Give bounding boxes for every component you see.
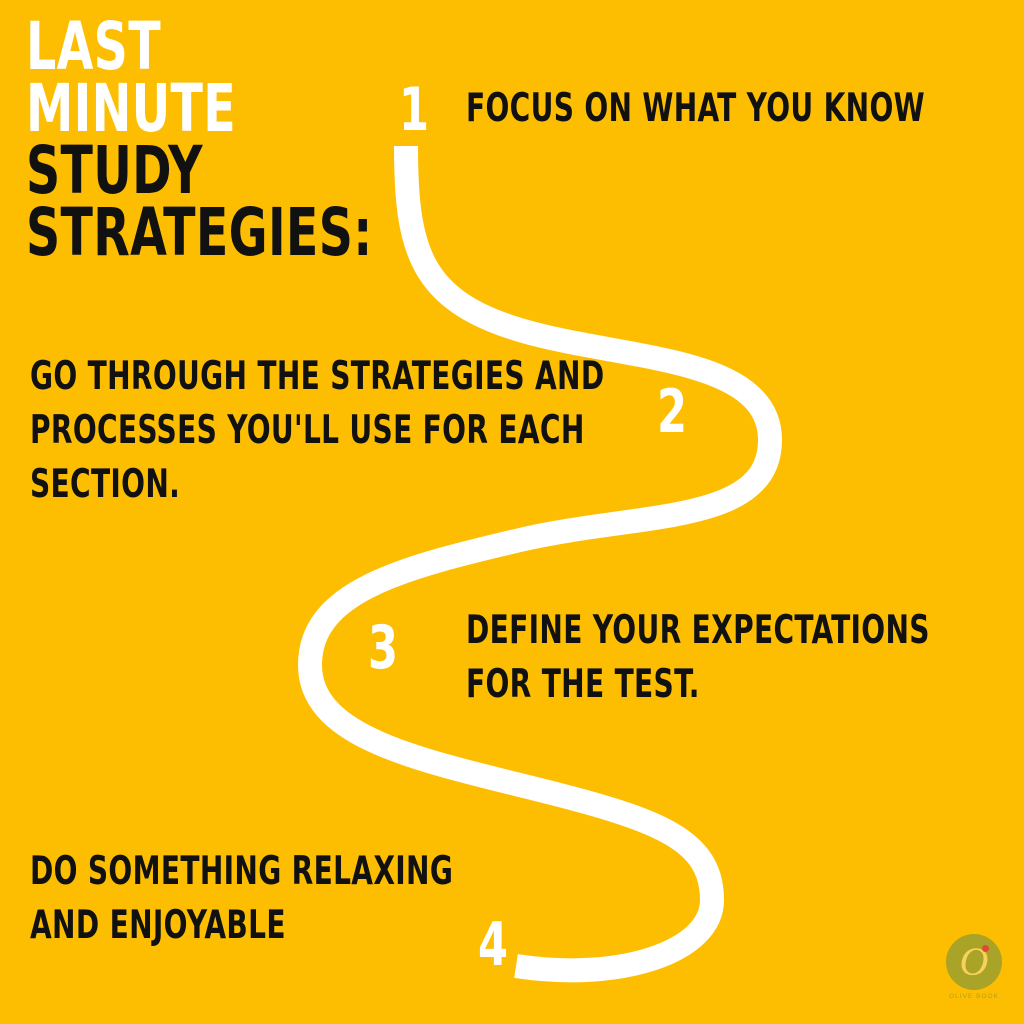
step-2-line-1: GO THROUGH THE STRATEGIES AND <box>30 350 605 404</box>
title-line-3: STUDY <box>26 140 474 202</box>
step-3-number: 3 <box>368 618 398 678</box>
logo-wordmark: OLIVE BOOK <box>938 993 1010 1000</box>
step-3-text: DEFINE YOUR EXPECTATIONS FOR THE TEST. <box>466 604 1024 712</box>
title-line-1: LAST <box>26 16 474 78</box>
step-2-line-2: PROCESSES YOU'LL USE FOR EACH <box>30 404 605 458</box>
title-line-4: STRATEGIES: <box>26 202 474 264</box>
step-4-text: DO SOMETHING RELAXING AND ENJOYABLE <box>30 845 559 953</box>
step-3-line-2: FOR THE TEST. <box>466 658 930 712</box>
step-1-line-1: FOCUS ON WHAT YOU KNOW <box>466 82 925 136</box>
step-2-text: GO THROUGH THE STRATEGIES AND PROCESSES … <box>30 350 748 512</box>
step-4-line-1: DO SOMETHING RELAXING <box>30 845 453 899</box>
step-1-number: 1 <box>399 80 429 140</box>
page-title: LAST MINUTE STUDY STRATEGIES: <box>26 16 586 264</box>
olive-book-logo: O OLIVE BOOK <box>938 934 1010 1012</box>
logo-red-dot-icon <box>982 945 989 952</box>
logo-circle-icon: O <box>946 934 1002 990</box>
step-4-line-2: AND ENJOYABLE <box>30 899 453 953</box>
step-2-line-3: SECTION. <box>30 458 605 512</box>
step-1-text: FOCUS ON WHAT YOU KNOW <box>466 82 1024 136</box>
infographic-poster: LAST MINUTE STUDY STRATEGIES: 1 FOCUS ON… <box>0 0 1024 1024</box>
step-3-line-1: DEFINE YOUR EXPECTATIONS <box>466 604 930 658</box>
logo-letter-o: O <box>946 934 1002 990</box>
